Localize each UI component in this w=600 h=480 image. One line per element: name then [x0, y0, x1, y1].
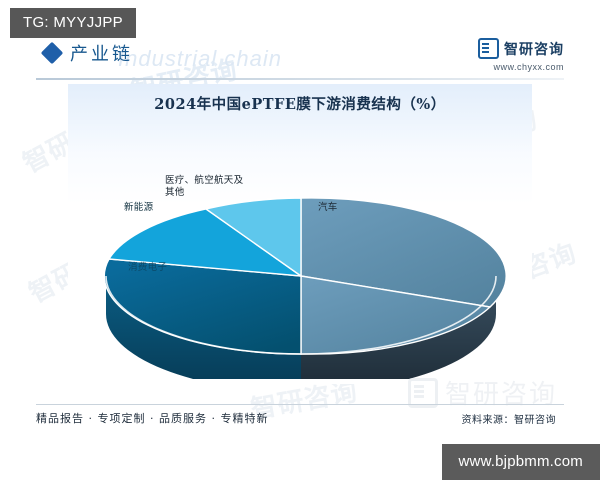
pie-svg — [86, 154, 516, 379]
chart-panel: 2024年中国ePTFE膜下游消费结构（%） — [68, 84, 532, 384]
footer-divider — [36, 404, 564, 405]
brand-logo: 智研咨询 — [478, 38, 564, 59]
brand-url: www.chyxx.com — [478, 62, 564, 72]
chart-title: 2024年中国ePTFE膜下游消费结构（%） — [68, 93, 532, 114]
url-overlay-badge: www.bjpbmm.com — [442, 444, 600, 480]
section-title: 产业链 — [70, 40, 133, 66]
header-divider — [36, 78, 564, 80]
zhiyan-logo-icon — [478, 38, 499, 59]
pie-3d-graphic — [86, 154, 516, 379]
diamond-icon — [41, 42, 64, 65]
header-ghost-text: Industrial chain — [118, 46, 282, 72]
slide-canvas: 智研咨询 智研咨询 智研咨询 智研咨询 智研咨询 智研咨询 智研咨询 智研咨询 … — [0, 0, 600, 480]
tag-overlay-badge: TG: MYYJJPP — [10, 8, 136, 38]
footer-tagline: 精品报告 · 专项定制 · 品质服务 · 专精特新 — [36, 410, 268, 426]
brand-block: 智研咨询 www.chyxx.com — [478, 38, 564, 72]
brand-name: 智研咨询 — [504, 39, 564, 59]
header: Industrial chain 产业链 智研咨询 www.chyxx.com — [0, 34, 600, 86]
pie-chart: 汽车 医疗、航空航天及其他 新能源 消费电子 — [86, 154, 516, 379]
section-heading: 产业链 — [44, 40, 133, 66]
footer-source: 资料来源：智研咨询 — [462, 411, 557, 426]
